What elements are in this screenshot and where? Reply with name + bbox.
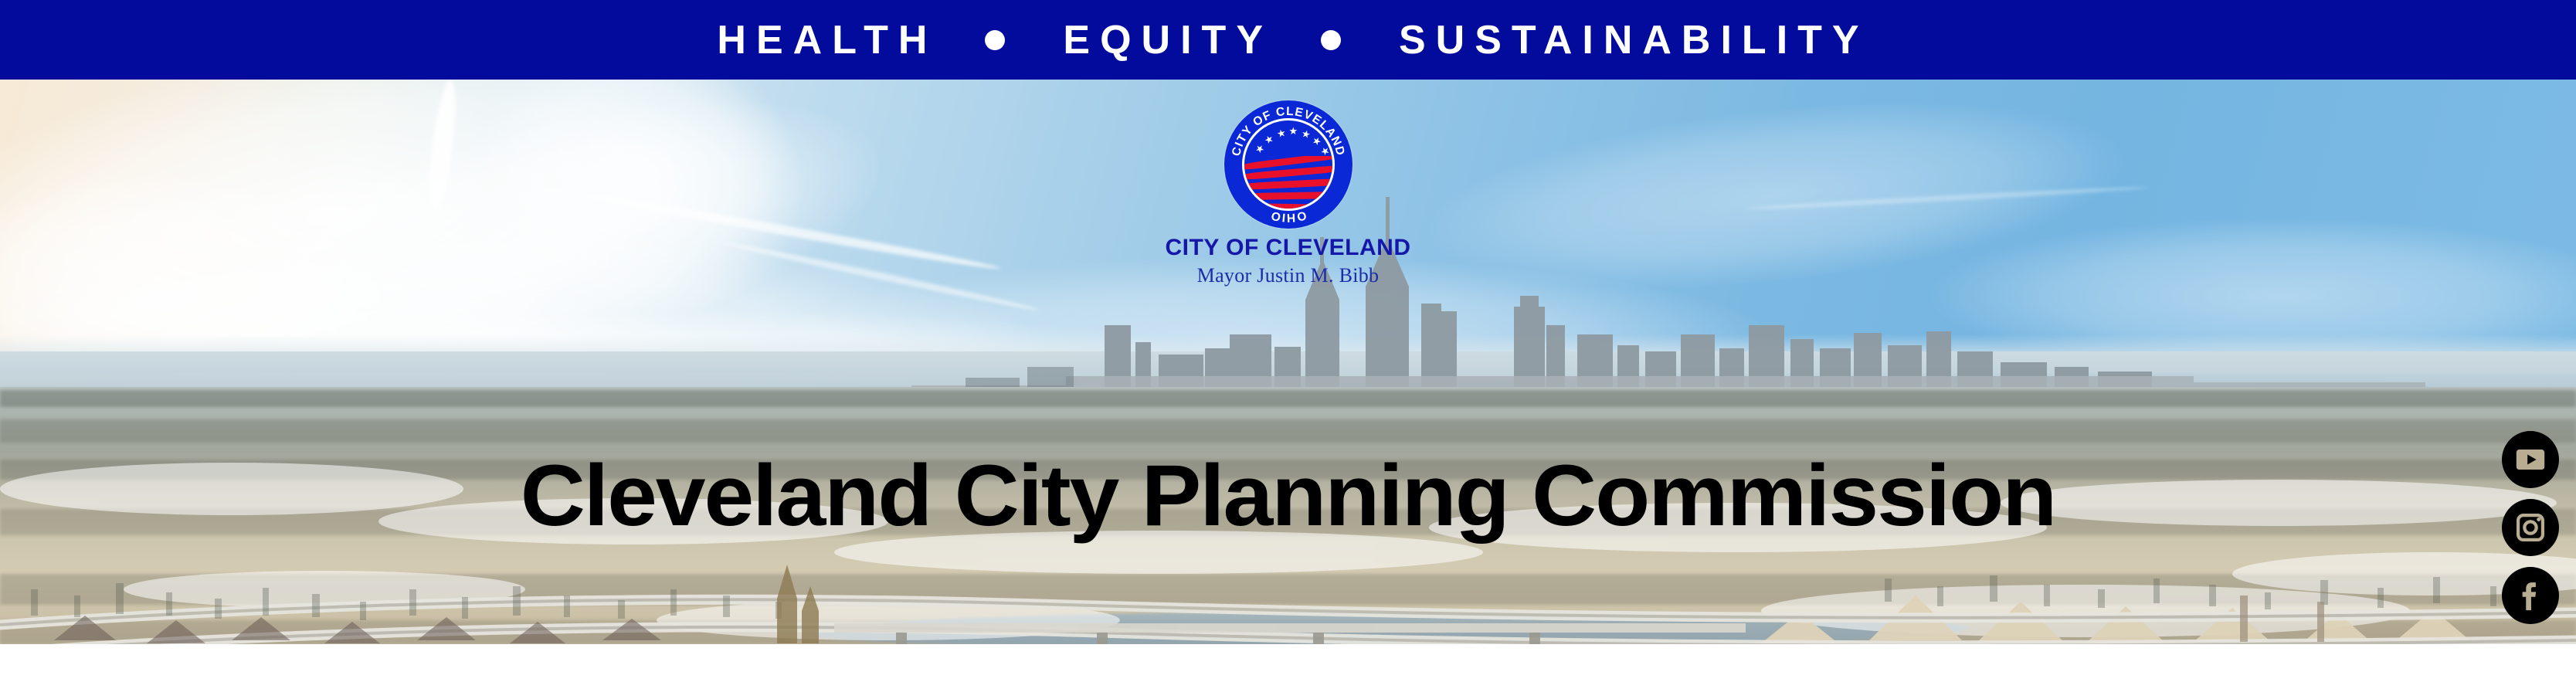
instagram-icon[interactable] [2502,499,2559,556]
mayor-name-label: Mayor Justin M. Bibb [1197,264,1380,287]
slogan-word-health: HEALTH [707,20,937,60]
bottom-white-strip [0,644,2576,682]
slogan-banner: HEALTH EQUITY SUSTAINABILITY [0,0,2576,80]
seal-ring-text: CITY OF CLEVELAND OHIO [1224,100,1352,229]
city-masthead: ★ ★ ★ ★ ★ ★ ★ C [0,100,2576,287]
bullet-dot-icon-1 [985,30,1005,50]
facebook-icon[interactable] [2502,567,2559,624]
page-title: Cleveland City Planning Commission [0,453,2576,539]
city-of-cleveland-seal-icon: ★ ★ ★ ★ ★ ★ ★ C [1224,100,1352,229]
slogan-word-equity: EQUITY [1053,20,1273,60]
bullet-dot-icon-2 [1321,30,1341,50]
social-media-rail [2502,431,2559,624]
youtube-icon[interactable] [2502,431,2559,488]
svg-text:CITY OF CLEVELAND: CITY OF CLEVELAND [1229,105,1346,158]
planning-commission-header-banner: HEALTH EQUITY SUSTAINABILITY [0,0,2576,682]
svg-text:OHIO: OHIO [1269,209,1308,225]
slogan-word-sustainability: SUSTAINABILITY [1389,20,1869,60]
city-name-label: CITY OF CLEVELAND [1166,235,1411,261]
